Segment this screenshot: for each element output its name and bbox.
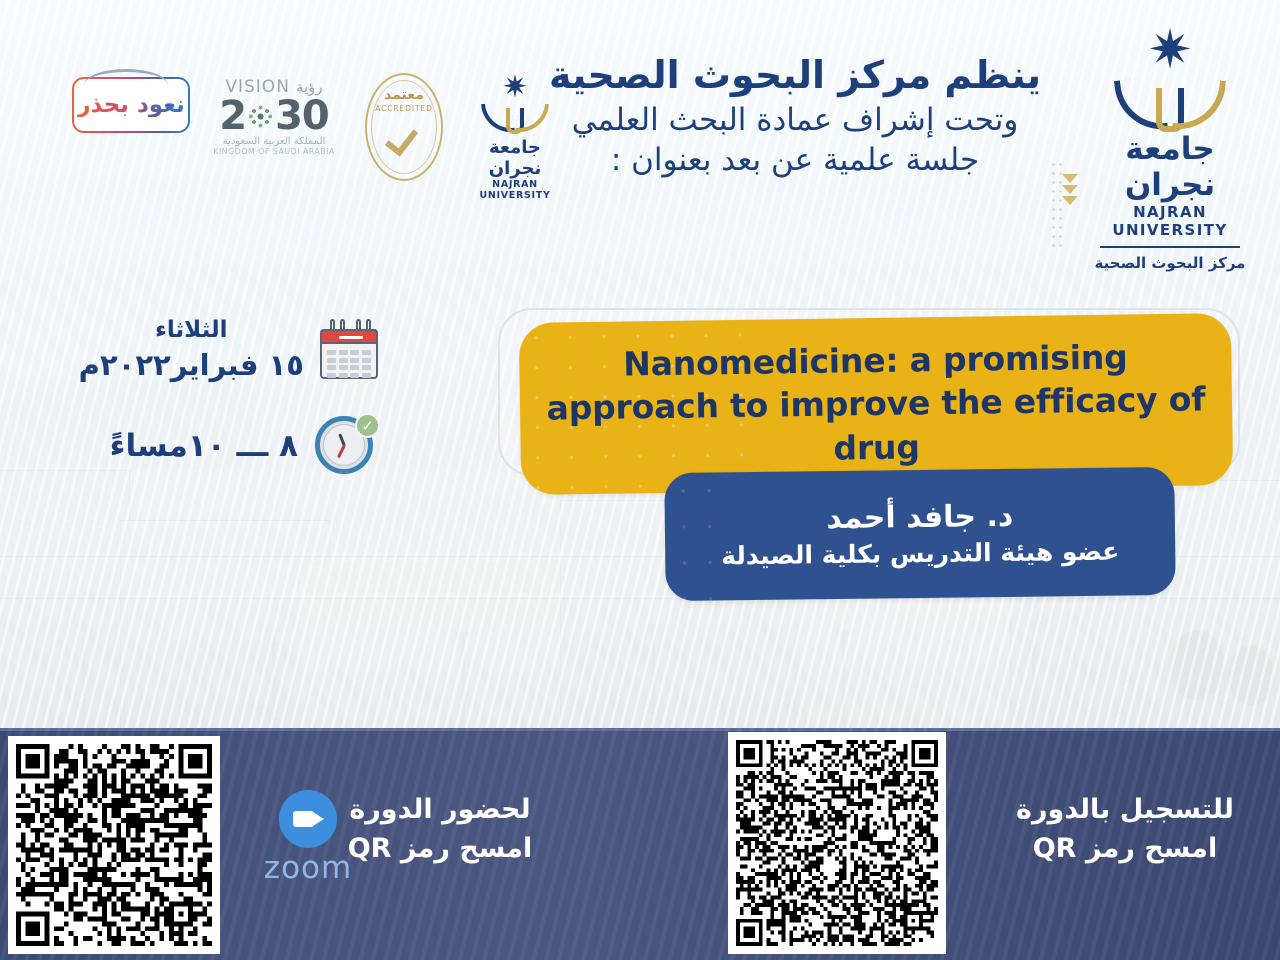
najran-arc-icon <box>477 100 553 134</box>
register-line-2: امسح رمز QR <box>1000 829 1250 868</box>
headline-line-1: ينظم مركز البحوث الصحية <box>545 52 1045 100</box>
building-shape <box>300 560 580 730</box>
time-label: ٨ ـــ ١٠مساءً <box>110 428 298 464</box>
triangle-stack-icon <box>1062 174 1078 207</box>
headline-line-2: وتحت إشراف عمادة البحث العلمي <box>545 100 1045 140</box>
tree-shape <box>1228 645 1274 705</box>
horizon-line <box>0 598 1280 599</box>
palm-pattern-icon <box>247 103 274 130</box>
bar-top-divider <box>0 728 1280 731</box>
clock-icon: ✓ <box>312 413 380 479</box>
speaker-role: عضو هيئة التدريس بكلية الصيدلة <box>721 534 1119 573</box>
register-qr-code[interactable] <box>728 732 946 954</box>
dot-texture <box>670 473 712 601</box>
naud-swoosh-icon <box>84 69 168 85</box>
attend-instructions: لحضور الدورة امسح رمز QR <box>330 790 550 868</box>
najran-university-main-logo: ✷ جامعة نجران NAJRAN UNIVERSITY مركز الب… <box>1085 30 1255 272</box>
poster-canvas: نعود بحذر VISION رؤية 2 30 المملكة العرب… <box>0 0 1280 960</box>
date-row: الثلاثاء ١٥ فبراير٢٠٢٢م <box>60 315 380 385</box>
najran-small-en-label: NAJRAN UNIVERSITY <box>460 179 570 201</box>
attend-line-1: لحضور الدورة <box>330 790 550 829</box>
attend-qr-code[interactable] <box>8 736 220 954</box>
logo-row: نعود بحذر VISION رؤية 2 30 المملكة العرب… <box>60 35 520 165</box>
eight-point-star-icon: ✷ <box>1085 30 1255 70</box>
logo-divider <box>1100 246 1240 248</box>
attend-line-2: امسح رمز QR <box>330 829 550 868</box>
naud-bihathar-logo: نعود بحذر <box>72 77 190 133</box>
date-label: ١٥ فبراير٢٠٢٢م <box>79 346 304 385</box>
dot-triangle-ornament <box>1050 160 1080 250</box>
lamp-post <box>462 636 465 726</box>
lamp-post <box>82 640 85 726</box>
vision-2030-logo: VISION رؤية 2 30 المملكة العربية السعودي… <box>210 77 338 156</box>
register-instructions: للتسجيل بالدورة امسح رمز QR <box>1000 790 1250 868</box>
tree-shape <box>1170 630 1224 700</box>
vision-number-right: 30 <box>275 97 329 135</box>
lamp-post <box>842 634 845 726</box>
video-camera-icon <box>279 790 337 848</box>
building-shape <box>0 470 130 730</box>
calendar-icon <box>318 319 380 381</box>
accredited-ar-label: معتمد <box>384 88 424 102</box>
naud-bihathar-label: نعود بحذر <box>77 94 185 117</box>
headline-line-3: جلسة علمية عن بعد بعنوان : <box>545 140 1045 180</box>
accredited-en-label: ACCREDITED <box>375 104 433 113</box>
session-title-text: Nanomedicine: a promising approach to im… <box>545 334 1207 474</box>
schedule-block: الثلاثاء ١٥ فبراير٢٠٢٢م ✓ ٨ ـــ ١٠مساءً <box>60 315 380 507</box>
najran-arc-icon <box>1111 74 1229 132</box>
lamp-post <box>272 630 275 726</box>
time-row: ✓ ٨ ـــ ١٠مساءً <box>60 413 380 479</box>
vision-kingdom-en: KINGDOM OF SAUDI ARABIA <box>210 147 338 156</box>
date-text: الثلاثاء ١٥ فبراير٢٠٢٢م <box>79 315 304 385</box>
accredited-badge: معتمد ACCREDITED <box>365 73 443 181</box>
checkmark-icon <box>389 118 419 152</box>
building-shape <box>120 520 330 730</box>
najran-main-ar-label: جامعة نجران <box>1085 132 1255 203</box>
check-badge-icon: ✓ <box>355 413 380 438</box>
health-research-center-label: مركز البحوث الصحية <box>1085 254 1255 272</box>
lamp-post <box>652 628 655 726</box>
register-line-1: للتسجيل بالدورة <box>1000 790 1250 829</box>
day-label: الثلاثاء <box>79 315 304 346</box>
arabic-headline: ينظم مركز البحوث الصحية وتحت إشراف عمادة… <box>545 52 1045 180</box>
vision-number-left: 2 <box>219 97 246 135</box>
speaker-card: د. جافد أحمد عضو هيئة التدريس بكلية الصي… <box>664 467 1176 601</box>
speaker-name: د. جافد أحمد <box>826 496 1013 537</box>
najran-main-en-label: NAJRAN UNIVERSITY <box>1085 203 1255 239</box>
lamp-post <box>1032 626 1035 726</box>
vision-kingdom-ar: المملكة العربية السعودية <box>210 136 338 147</box>
